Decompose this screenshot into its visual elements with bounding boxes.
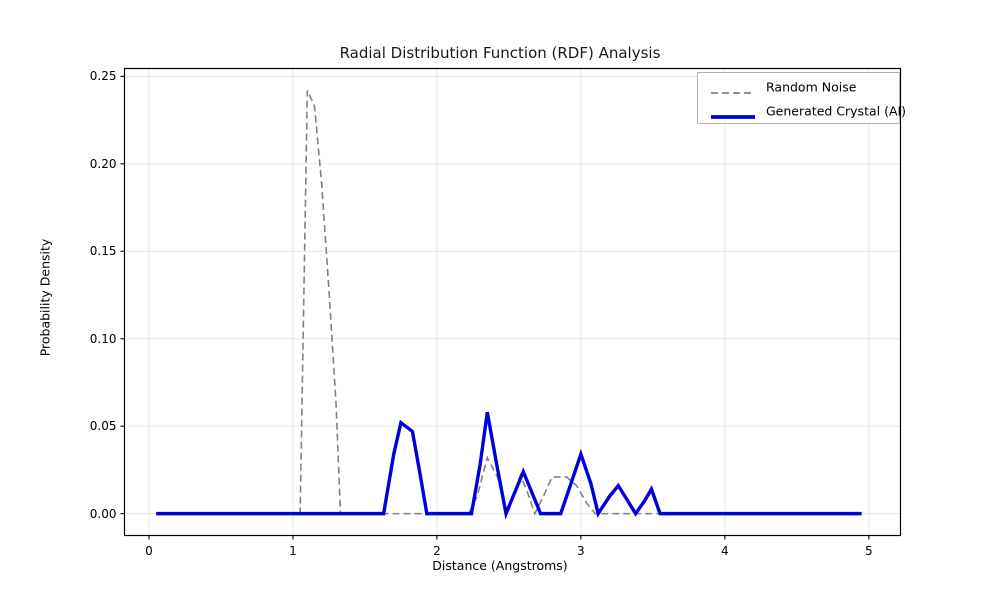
y-axis-label: Probability Density bbox=[38, 98, 53, 498]
x-tick-label: 2 bbox=[433, 544, 441, 558]
y-tick-label: 0.00 bbox=[75, 507, 117, 521]
legend: Random Noise Generated Crystal (AI) bbox=[697, 72, 900, 124]
y-tick-label: 0.15 bbox=[75, 244, 117, 258]
x-axis-label: Distance (Angstroms) bbox=[0, 558, 1000, 573]
x-tick-label: 4 bbox=[721, 544, 729, 558]
series-line-0 bbox=[156, 90, 670, 513]
legend-label-random-noise: Random Noise bbox=[766, 80, 856, 95]
legend-item-random-noise: Random Noise bbox=[706, 76, 896, 98]
chart-figure: Radial Distribution Function (RDF) Analy… bbox=[0, 0, 1000, 600]
x-tick-label: 1 bbox=[289, 544, 297, 558]
legend-label-generated-crystal: Generated Crystal (AI) bbox=[766, 104, 906, 119]
legend-item-generated-crystal: Generated Crystal (AI) bbox=[706, 100, 896, 122]
x-tick-label: 3 bbox=[577, 544, 585, 558]
legend-swatch-dashed-line bbox=[710, 87, 756, 99]
grid-lines bbox=[125, 69, 901, 536]
y-tick-label: 0.05 bbox=[75, 419, 117, 433]
legend-swatch-solid-line bbox=[710, 111, 756, 123]
y-tick-label: 0.25 bbox=[75, 69, 117, 83]
series-line-1 bbox=[156, 412, 861, 513]
y-tick-label: 0.20 bbox=[75, 157, 117, 171]
x-tick-label: 0 bbox=[145, 544, 153, 558]
plot-frame bbox=[125, 69, 901, 536]
series-lines bbox=[156, 90, 861, 513]
x-tick-label: 5 bbox=[865, 544, 873, 558]
y-tick-label: 0.10 bbox=[75, 332, 117, 346]
